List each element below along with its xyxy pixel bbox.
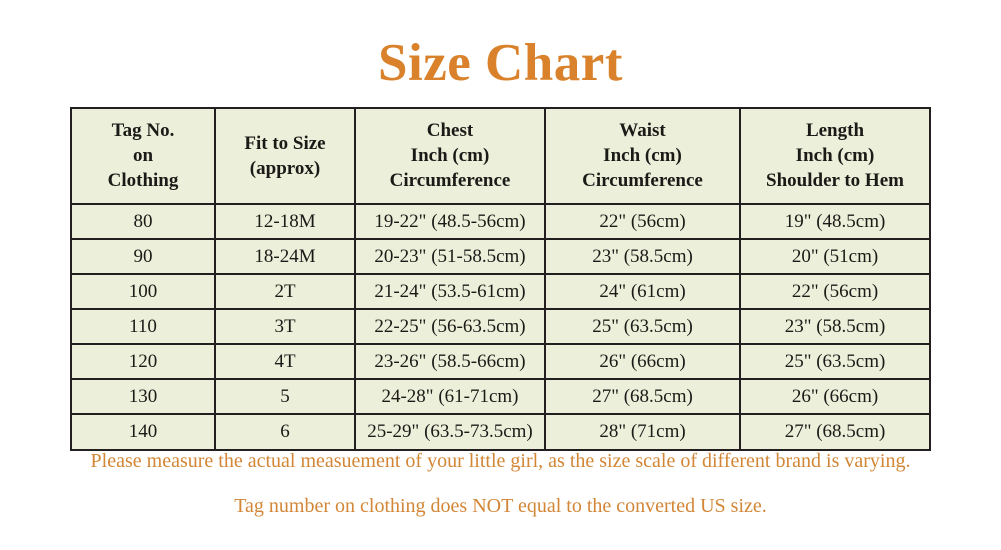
cell-length: 22" (56cm) <box>740 274 929 309</box>
table-body: 80 12-18M 19-22" (48.5-56cm) 22" (56cm) … <box>72 204 929 449</box>
cell-chest: 23-26" (58.5-66cm) <box>355 344 545 379</box>
table-row: 110 3T 22-25" (56-63.5cm) 25" (63.5cm) 2… <box>72 309 929 344</box>
column-header-line: Circumference <box>360 168 540 193</box>
size-chart-table-container: Tag No. on Clothing Fit to Size (approx)… <box>70 107 931 451</box>
cell-fit-to-size: 5 <box>215 379 355 414</box>
cell-fit-to-size: 12-18M <box>215 204 355 239</box>
column-header-line: Length <box>745 118 925 143</box>
table-row: 80 12-18M 19-22" (48.5-56cm) 22" (56cm) … <box>72 204 929 239</box>
footer-notes: Please measure the actual measuement of … <box>0 449 1001 518</box>
column-header-line: Clothing <box>76 168 210 193</box>
cell-fit-to-size: 18-24M <box>215 239 355 274</box>
cell-chest: 21-24" (53.5-61cm) <box>355 274 545 309</box>
column-header-tag-no: Tag No. on Clothing <box>72 109 215 204</box>
cell-fit-to-size: 6 <box>215 414 355 449</box>
cell-length: 20" (51cm) <box>740 239 929 274</box>
column-header-line: on <box>76 143 210 168</box>
cell-tag-no: 140 <box>72 414 215 449</box>
column-header-line: (approx) <box>220 156 350 181</box>
size-chart-table: Tag No. on Clothing Fit to Size (approx)… <box>72 109 929 449</box>
cell-waist: 22" (56cm) <box>545 204 740 239</box>
column-header-line: Circumference <box>550 168 735 193</box>
cell-tag-no: 100 <box>72 274 215 309</box>
column-header-line: Tag No. <box>76 118 210 143</box>
table-row: 100 2T 21-24" (53.5-61cm) 24" (61cm) 22"… <box>72 274 929 309</box>
cell-waist: 28" (71cm) <box>545 414 740 449</box>
cell-length: 23" (58.5cm) <box>740 309 929 344</box>
cell-waist: 25" (63.5cm) <box>545 309 740 344</box>
column-header-line: Inch (cm) <box>550 143 735 168</box>
cell-waist: 26" (66cm) <box>545 344 740 379</box>
cell-chest: 24-28" (61-71cm) <box>355 379 545 414</box>
cell-waist: 27" (68.5cm) <box>545 379 740 414</box>
cell-length: 27" (68.5cm) <box>740 414 929 449</box>
column-header-fit-to-size: Fit to Size (approx) <box>215 109 355 204</box>
cell-chest: 25-29" (63.5-73.5cm) <box>355 414 545 449</box>
column-header-line: Inch (cm) <box>745 143 925 168</box>
table-row: 130 5 24-28" (61-71cm) 27" (68.5cm) 26" … <box>72 379 929 414</box>
cell-length: 25" (63.5cm) <box>740 344 929 379</box>
table-header: Tag No. on Clothing Fit to Size (approx)… <box>72 109 929 204</box>
column-header-line: Fit to Size <box>220 131 350 156</box>
cell-waist: 23" (58.5cm) <box>545 239 740 274</box>
footer-note-measure: Please measure the actual measuement of … <box>0 449 1001 473</box>
cell-tag-no: 130 <box>72 379 215 414</box>
column-header-waist: Waist Inch (cm) Circumference <box>545 109 740 204</box>
cell-fit-to-size: 2T <box>215 274 355 309</box>
column-header-line: Waist <box>550 118 735 143</box>
cell-chest: 19-22" (48.5-56cm) <box>355 204 545 239</box>
cell-fit-to-size: 3T <box>215 309 355 344</box>
size-chart-page: Size Chart Tag No. on Clothing Fit to Si… <box>0 0 1001 550</box>
cell-fit-to-size: 4T <box>215 344 355 379</box>
column-header-length: Length Inch (cm) Shoulder to Hem <box>740 109 929 204</box>
column-header-line: Chest <box>360 118 540 143</box>
column-header-line: Shoulder to Hem <box>745 168 925 193</box>
table-header-row: Tag No. on Clothing Fit to Size (approx)… <box>72 109 929 204</box>
cell-length: 19" (48.5cm) <box>740 204 929 239</box>
column-header-chest: Chest Inch (cm) Circumference <box>355 109 545 204</box>
cell-tag-no: 80 <box>72 204 215 239</box>
cell-tag-no: 90 <box>72 239 215 274</box>
table-row: 120 4T 23-26" (58.5-66cm) 26" (66cm) 25"… <box>72 344 929 379</box>
cell-tag-no: 110 <box>72 309 215 344</box>
column-header-line: Inch (cm) <box>360 143 540 168</box>
table-row: 90 18-24M 20-23" (51-58.5cm) 23" (58.5cm… <box>72 239 929 274</box>
cell-chest: 20-23" (51-58.5cm) <box>355 239 545 274</box>
cell-length: 26" (66cm) <box>740 379 929 414</box>
cell-chest: 22-25" (56-63.5cm) <box>355 309 545 344</box>
page-title: Size Chart <box>0 34 1001 92</box>
table-row: 140 6 25-29" (63.5-73.5cm) 28" (71cm) 27… <box>72 414 929 449</box>
cell-tag-no: 120 <box>72 344 215 379</box>
footer-note-tag-size: Tag number on clothing does NOT equal to… <box>0 494 1001 518</box>
cell-waist: 24" (61cm) <box>545 274 740 309</box>
